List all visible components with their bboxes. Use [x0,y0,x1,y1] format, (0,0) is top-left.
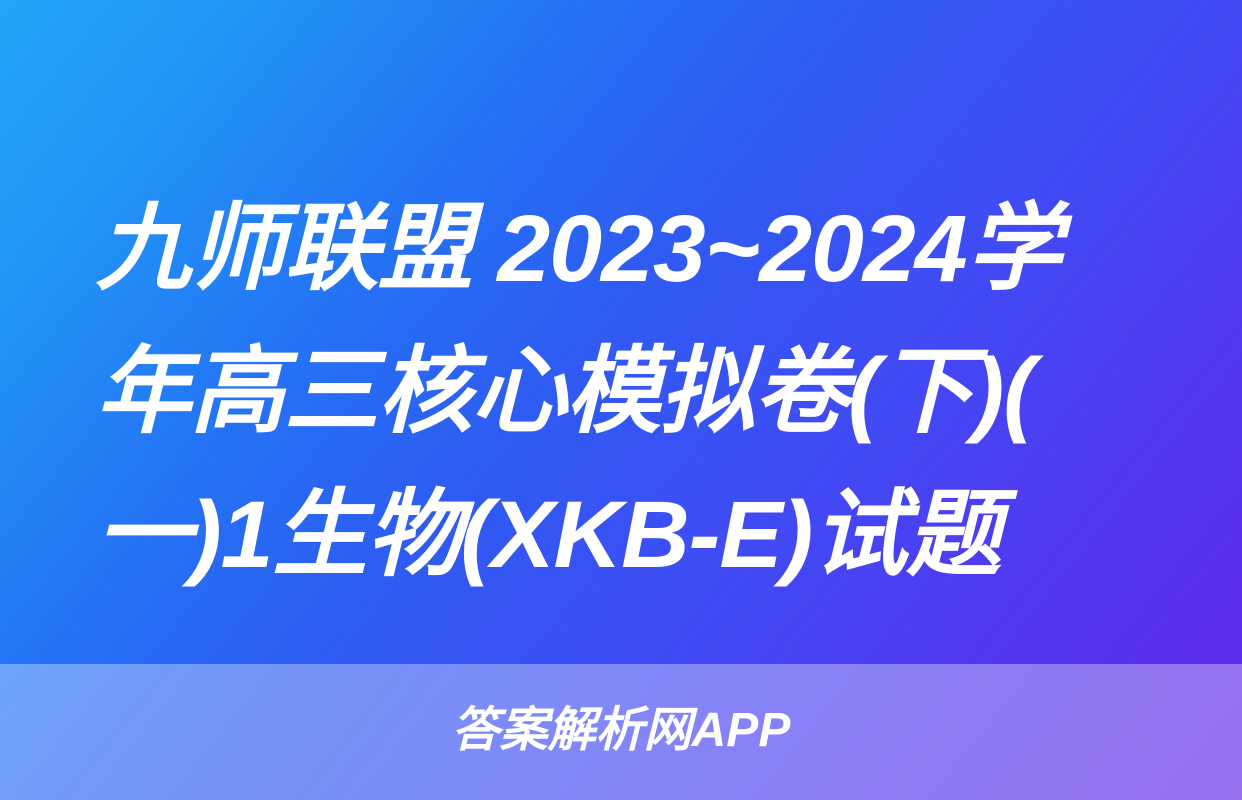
cover-canvas: 九师联盟 2023~2024学 年高三核心模拟卷(下)( 一)1生物(XKB-E… [0,0,1242,800]
title-line-1: 九师联盟 2023~2024学 [96,178,1172,321]
page-title: 九师联盟 2023~2024学 年高三核心模拟卷(下)( 一)1生物(XKB-E… [96,178,1172,607]
app-watermark: 答案解析网APP [0,702,1242,760]
title-line-2: 年高三核心模拟卷(下)( [96,321,1172,464]
title-line-3: 一)1生物(XKB-E)试题 [96,464,1172,607]
